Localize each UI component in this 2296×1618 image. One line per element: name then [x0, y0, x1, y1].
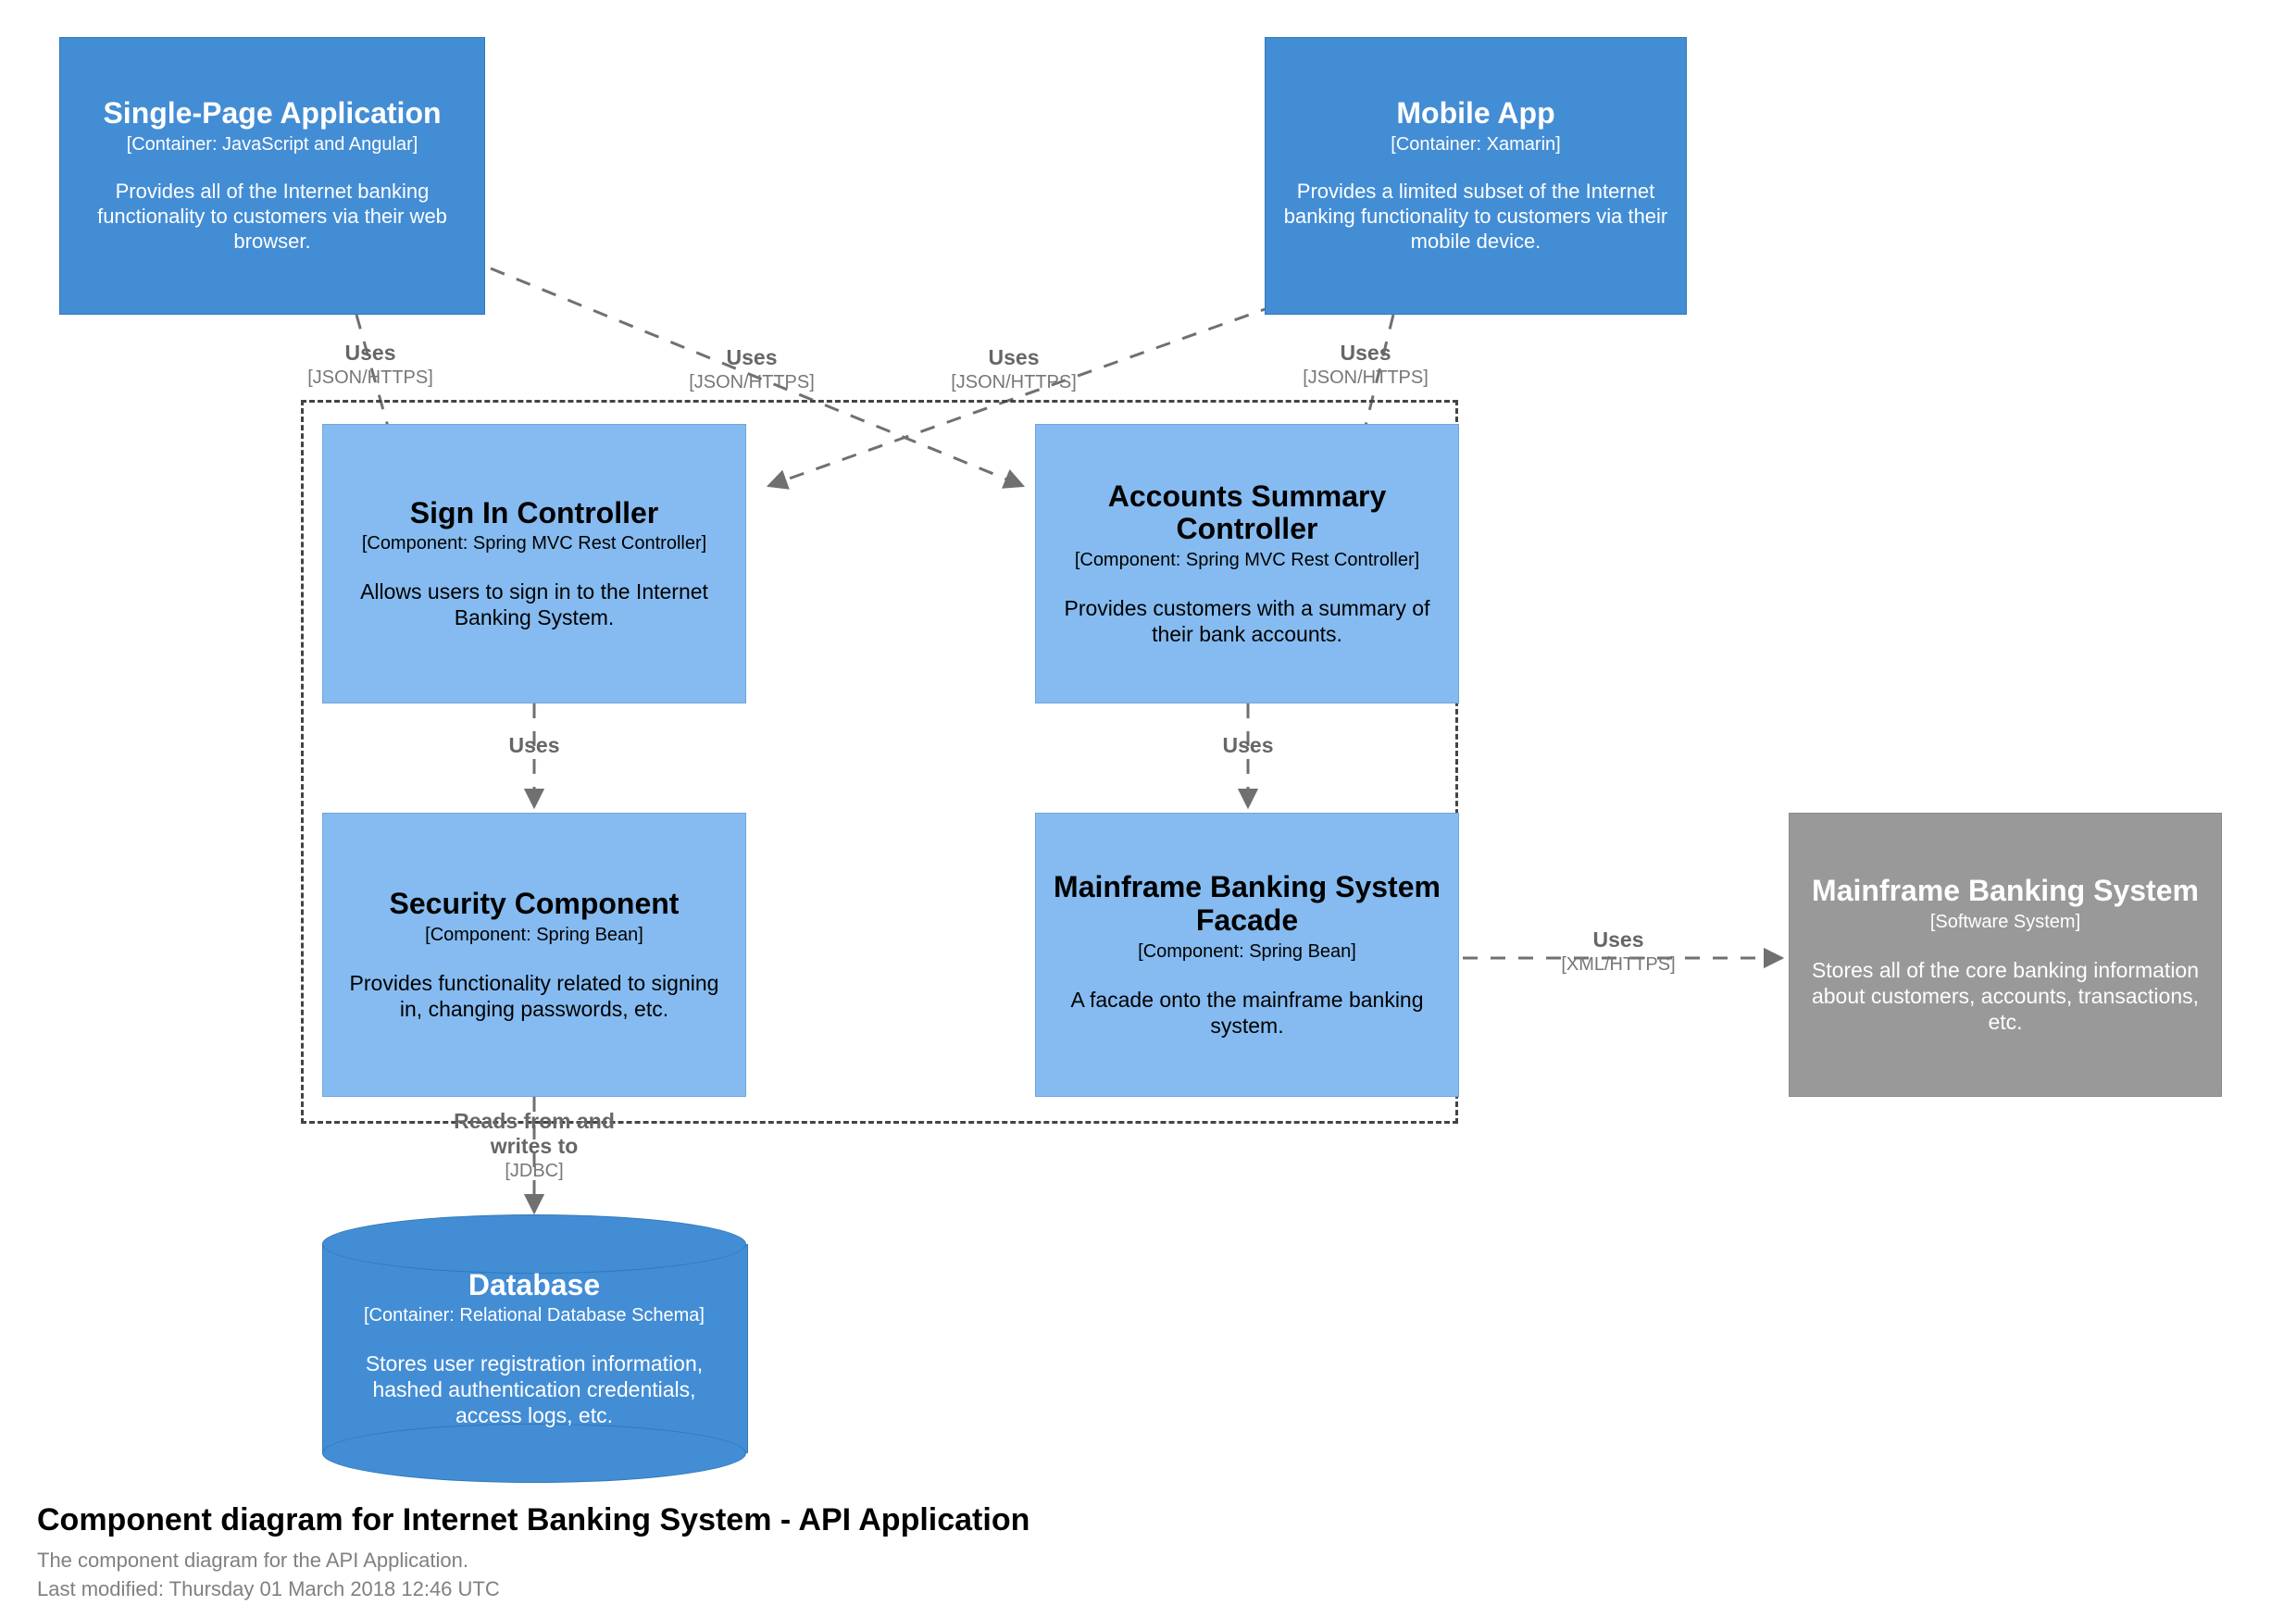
- node-title: Mainframe Banking System: [1812, 875, 2199, 908]
- diagram-subtitle: The component diagram for the API Applic…: [37, 1547, 1029, 1574]
- diagram-canvas: Single-Page Application [Container: Java…: [0, 0, 2296, 1618]
- node-description: Provides customers with a summary of the…: [1053, 595, 1441, 647]
- relationship-technology: [JSON/HTTPS]: [921, 372, 1106, 394]
- node-title: Mobile App: [1396, 97, 1554, 131]
- relationship-technology: [JSON/HTTPS]: [659, 372, 844, 394]
- node-single-page-application[interactable]: Single-Page Application [Container: Java…: [59, 37, 485, 315]
- relationship-description: Uses: [442, 733, 627, 758]
- node-technology: [Container: JavaScript and Angular]: [127, 134, 418, 156]
- relationship-description: Uses: [921, 345, 1106, 370]
- node-mainframe-banking-system[interactable]: Mainframe Banking System [Software Syste…: [1789, 813, 2222, 1097]
- node-technology: [Component: Spring MVC Rest Controller]: [1075, 550, 1419, 571]
- diagram-title: Component diagram for Internet Banking S…: [37, 1501, 1029, 1539]
- node-technology: [Component: Spring Bean]: [1138, 941, 1356, 963]
- relationship-label-signin-to-security: Uses: [442, 733, 627, 758]
- node-description: Provides a limited subset of the Interne…: [1282, 180, 1669, 254]
- node-description: Stores user registration information, ha…: [346, 1350, 722, 1428]
- relationship-label-spa-to-accounts: Uses [JSON/HTTPS]: [659, 345, 844, 394]
- relationship-description: Uses: [1155, 733, 1341, 758]
- node-technology: [Container: Xamarin]: [1391, 134, 1560, 156]
- node-description: Stores all of the core banking informati…: [1806, 957, 2204, 1035]
- diagram-footer: Component diagram for Internet Banking S…: [37, 1501, 1029, 1603]
- node-title: Database: [468, 1269, 600, 1302]
- node-technology: [Software System]: [1930, 912, 2080, 933]
- relationship-description: Uses: [1273, 341, 1458, 366]
- node-accounts-summary-controller[interactable]: Accounts Summary Controller [Component: …: [1035, 424, 1459, 703]
- node-title: Security Component: [390, 888, 680, 921]
- relationship-description: Uses: [278, 341, 463, 366]
- relationship-description: Uses: [659, 345, 844, 370]
- node-description: A facade onto the mainframe banking syst…: [1053, 987, 1441, 1039]
- node-title: Accounts Summary Controller: [1053, 480, 1441, 547]
- node-title: Single-Page Application: [103, 97, 441, 131]
- node-description: Provides all of the Internet banking fun…: [77, 180, 468, 254]
- node-description: Provides functionality related to signin…: [340, 970, 729, 1022]
- relationship-technology: [JDBC]: [418, 1161, 650, 1183]
- node-title: Sign In Controller: [410, 497, 658, 530]
- relationship-technology: [JSON/HTTPS]: [278, 367, 463, 390]
- relationship-label-security-to-database: Reads from and writes to [JDBC]: [418, 1109, 650, 1183]
- node-title: Mainframe Banking System Facade: [1053, 871, 1441, 938]
- relationship-technology: [JSON/HTTPS]: [1273, 367, 1458, 390]
- relationship-technology: [XML/HTTPS]: [1526, 954, 1711, 977]
- diagram-last-modified: Last modified: Thursday 01 March 2018 12…: [37, 1575, 1029, 1603]
- node-mainframe-banking-system-facade[interactable]: Mainframe Banking System Facade [Compone…: [1035, 813, 1459, 1097]
- relationship-label-accounts-to-facade: Uses: [1155, 733, 1341, 758]
- relationship-label-mobile-to-signin: Uses [JSON/HTTPS]: [921, 345, 1106, 394]
- node-technology: [Component: Spring MVC Rest Controller]: [362, 533, 706, 554]
- relationship-description-line1: Reads from and: [418, 1109, 650, 1134]
- relationship-label-mobile-to-accounts: Uses [JSON/HTTPS]: [1273, 341, 1458, 390]
- database-text-block: Database [Container: Relational Database…: [322, 1214, 746, 1483]
- relationship-label-spa-to-signin: Uses [JSON/HTTPS]: [278, 341, 463, 390]
- relationship-label-facade-to-mainframe: Uses [XML/HTTPS]: [1526, 927, 1711, 977]
- node-technology: [Component: Spring Bean]: [425, 925, 643, 946]
- node-mobile-app[interactable]: Mobile App [Container: Xamarin] Provides…: [1265, 37, 1687, 315]
- node-description: Allows users to sign in to the Internet …: [340, 579, 729, 630]
- node-sign-in-controller[interactable]: Sign In Controller [Component: Spring MV…: [322, 424, 746, 703]
- node-technology: [Container: Relational Database Schema]: [364, 1305, 705, 1326]
- node-security-component[interactable]: Security Component [Component: Spring Be…: [322, 813, 746, 1097]
- node-database[interactable]: Database [Container: Relational Database…: [322, 1214, 746, 1483]
- relationship-description: Uses: [1526, 927, 1711, 952]
- relationship-description-line2: writes to: [418, 1134, 650, 1159]
